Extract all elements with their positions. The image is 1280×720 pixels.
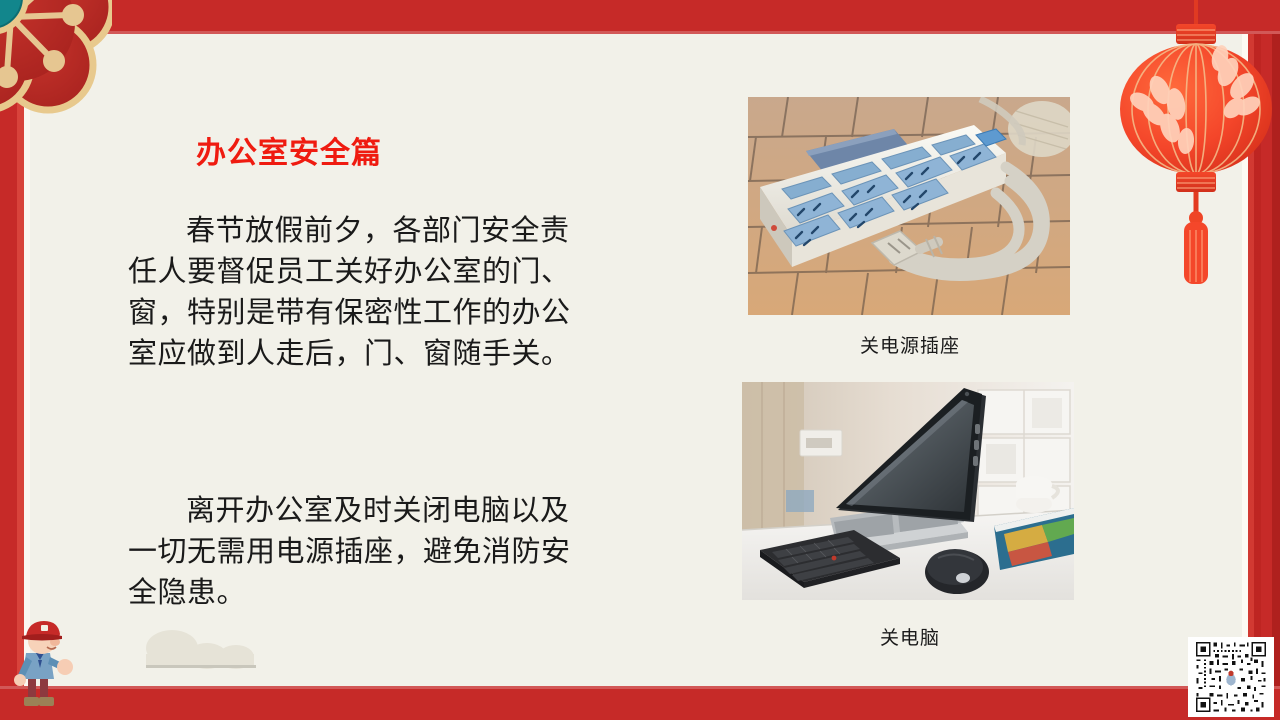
cloud-decoration: [124, 626, 274, 670]
paragraph-power-off: 离开办公室及时关闭电脑以及一切无需用电源插座，避免消防安全隐患。: [128, 490, 598, 613]
paragraph-1-text: 春节放假前夕，各部门安全责任人要督促员工关好办公室的门、窗，特别是带有保密性工作…: [128, 213, 571, 370]
plum-blossom-ornament: [0, 0, 112, 118]
power-strip-photo: [748, 97, 1070, 315]
caption-power-strip: 关电源插座: [745, 331, 1075, 358]
computer-photo: [742, 382, 1074, 600]
page-title: 办公室安全篇: [196, 128, 382, 172]
slide-canvas: 办公室安全篇 春节放假前夕，各部门安全责任人要督促员工关好办公室的门、窗，特别是…: [0, 0, 1280, 720]
bottom-red-band: [0, 686, 1280, 720]
top-red-band: [0, 0, 1280, 34]
safety-worker-mascot: [2, 617, 80, 711]
qr-code[interactable]: [1188, 637, 1274, 717]
paragraph-2-text: 离开办公室及时关闭电脑以及一切无需用电源插座，避免消防安全隐患。: [128, 493, 571, 609]
red-lantern-decoration: [1108, 0, 1280, 336]
paragraph-office-lock: 春节放假前夕，各部门安全责任人要督促员工关好办公室的门、窗，特别是带有保密性工作…: [128, 210, 598, 374]
caption-computer: 关电脑: [745, 623, 1075, 650]
